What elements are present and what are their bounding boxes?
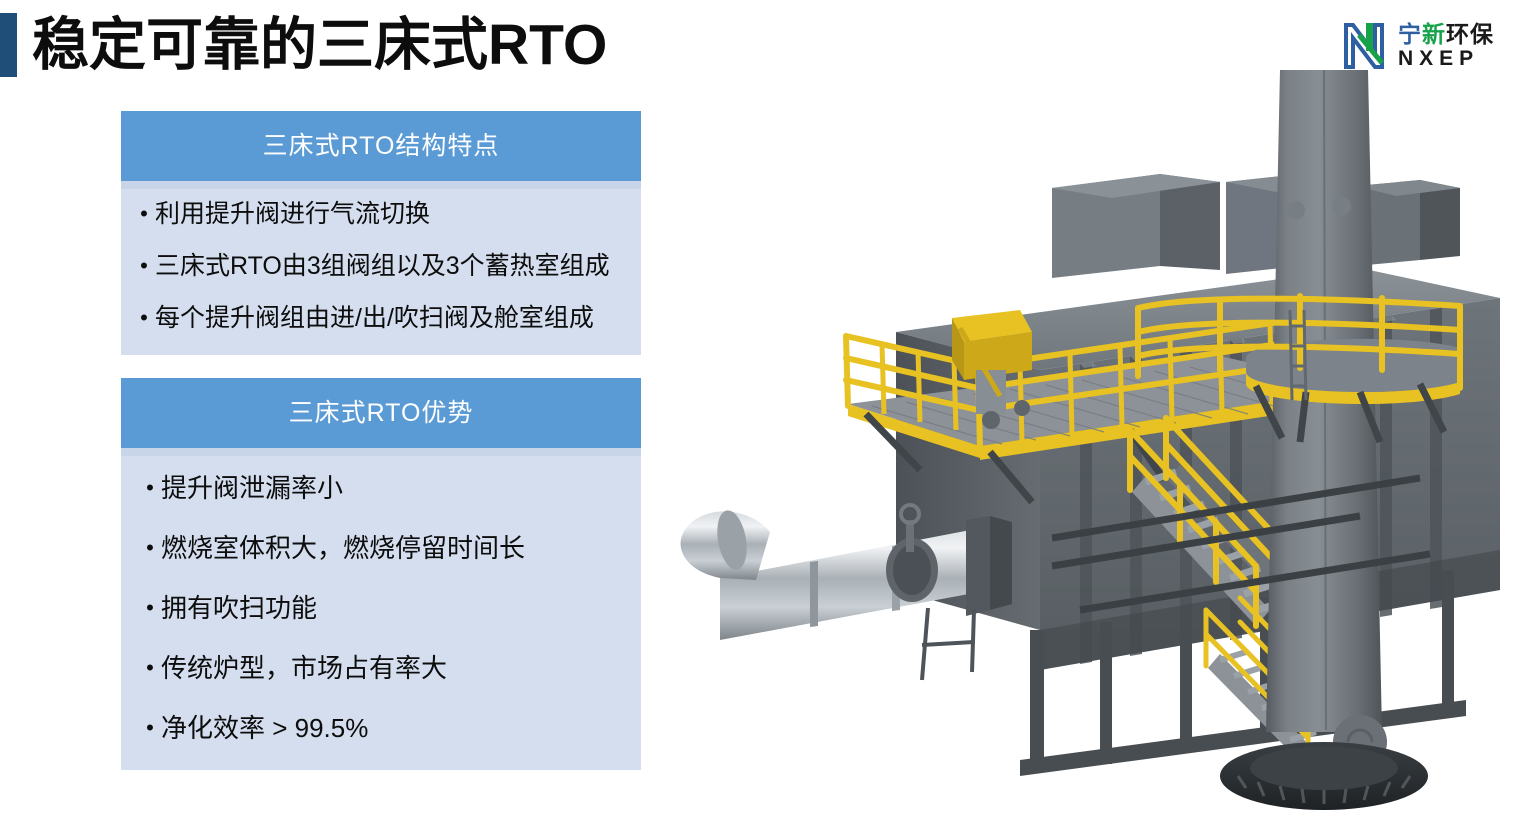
bullet-dot-icon: • — [139, 652, 161, 684]
list-item-label: 燃烧室体积大，燃烧停留时间长 — [161, 532, 525, 564]
logo-english-name: NXEP — [1398, 47, 1479, 70]
logo-cn-char-1: 宁 — [1398, 21, 1422, 47]
list-item: • 提升阀泄漏率小 — [121, 472, 641, 504]
list-item: • 燃烧室体积大，燃烧停留时间长 — [121, 532, 641, 564]
list-item-label: 传统炉型，市场占有率大 — [161, 652, 447, 684]
list-item: • 三床式RTO由3组阀组以及3个蓄热室组成 — [121, 251, 641, 281]
bullet-dot-icon: • — [133, 303, 155, 333]
title-accent-bar — [0, 13, 17, 77]
bullet-dot-icon: • — [139, 592, 161, 624]
list-item: • 传统炉型，市场占有率大 — [121, 652, 641, 684]
nxep-monogram-icon — [1342, 19, 1396, 73]
list-item: • 净化效率 > 99.5% — [121, 712, 641, 744]
infobox-structure: 三床式RTO结构特点 • 利用提升阀进行气流切换 • 三床式RTO由3组阀组以及… — [121, 111, 641, 355]
logo-wordmark: 宁新环保 NXEP — [1398, 21, 1502, 71]
page-title: 稳定可靠的三床式RTO — [32, 5, 607, 85]
infobox-structure-header: 三床式RTO结构特点 — [121, 111, 641, 181]
infobox-advantage-divider — [121, 448, 641, 456]
list-item-label: 净化效率 > 99.5% — [161, 712, 368, 744]
rto-render-svg — [660, 70, 1520, 821]
list-item-label: 利用提升阀进行气流切换 — [155, 199, 430, 229]
combustion-chamber-boxes — [1052, 174, 1460, 278]
logo-cn-char-3: 环保 — [1446, 21, 1494, 47]
company-logo: 宁新环保 NXEP — [1342, 14, 1502, 78]
infobox-advantage-header: 三床式RTO优势 — [121, 378, 641, 448]
bullet-dot-icon: • — [133, 251, 155, 281]
list-item: • 拥有吹扫功能 — [121, 592, 641, 624]
list-item: • 利用提升阀进行气流切换 — [121, 199, 641, 229]
list-item-label: 提升阀泄漏率小 — [161, 472, 343, 504]
infobox-structure-divider — [121, 181, 641, 189]
logo-cn-char-2: 新 — [1422, 21, 1446, 47]
list-item: • 每个提升阀组由进/出/吹扫阀及舱室组成 — [121, 303, 641, 333]
list-item-label: 每个提升阀组由进/出/吹扫阀及舱室组成 — [155, 303, 594, 333]
list-item-label: 拥有吹扫功能 — [161, 592, 317, 624]
bullet-dot-icon: • — [139, 472, 161, 504]
logo-chinese-name: 宁新环保 — [1398, 21, 1494, 47]
bullet-dot-icon: • — [139, 532, 161, 564]
rto-main-body — [896, 174, 1500, 760]
stack-base-inner — [1250, 746, 1398, 790]
stack-bolt-pad-1 — [1287, 201, 1305, 219]
rto-equipment-illustration — [660, 70, 1520, 821]
slide-root: 稳定可靠的三床式RTO 宁新环保 NXEP 三床式RTO结构特点 • 利用提升阀… — [0, 0, 1520, 821]
infobox-advantage-body: • 提升阀泄漏率小 • 燃烧室体积大，燃烧停留时间长 • 拥有吹扫功能 • 传统… — [121, 456, 641, 770]
infobox-advantage: 三床式RTO优势 • 提升阀泄漏率小 • 燃烧室体积大，燃烧停留时间长 • 拥有… — [121, 378, 641, 770]
duct-flange-1 — [810, 561, 818, 627]
duct-transition-box — [966, 516, 990, 616]
infobox-structure-body: • 利用提升阀进行气流切换 • 三床式RTO由3组阀组以及3个蓄热室组成 • 每… — [121, 189, 641, 355]
duct-transition-side — [990, 516, 1012, 610]
bullet-dot-icon: • — [133, 199, 155, 229]
bullet-dot-icon: • — [139, 712, 161, 744]
stack-bolt-pad-2 — [1333, 197, 1351, 215]
list-item-label: 三床式RTO由3组阀组以及3个蓄热室组成 — [155, 251, 610, 281]
butterfly-valve-inner — [893, 545, 931, 595]
